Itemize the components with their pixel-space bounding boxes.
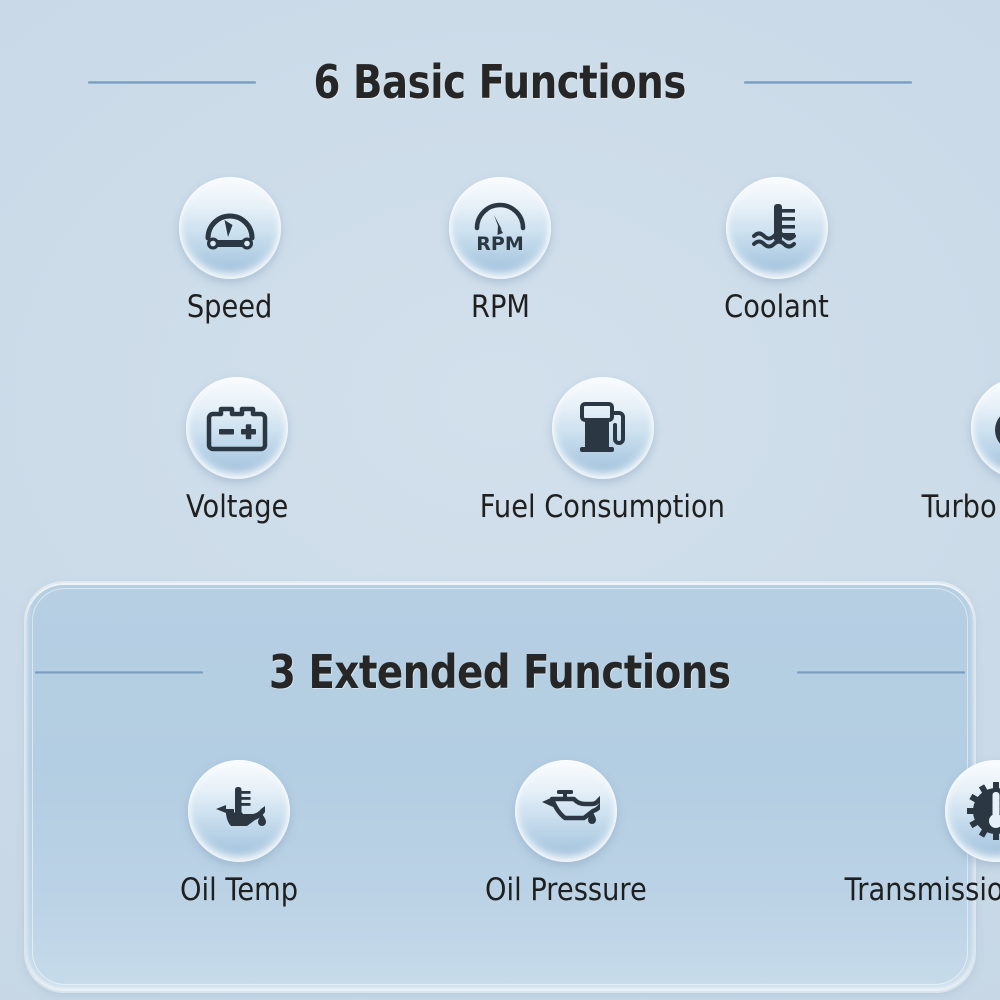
battery-icon [205, 402, 269, 454]
transmission-oil-temp-badge[interactable] [945, 760, 1000, 862]
rpm-badge[interactable]: RPM [449, 177, 551, 279]
extended-functions-row-1: Oil Temp Oil Pressure [0, 760, 1000, 906]
feature-fuel-consumption[interactable]: Fuel Consumption [463, 377, 742, 523]
feature-oil-temp[interactable]: Oil Temp [172, 760, 306, 906]
feature-label: Oil Pressure [485, 875, 647, 906]
extended-functions-heading: 3 Extended Functions [0, 637, 1000, 707]
basic-functions-row-2: Voltage Fuel Consumption [0, 377, 1000, 523]
coolant-badge[interactable] [726, 177, 828, 279]
feature-oil-pressure[interactable]: Oil Pressure [474, 760, 658, 906]
oil-pressure-badge[interactable] [515, 760, 617, 862]
coolant-thermometer-icon [746, 200, 808, 256]
feature-label: Turbo Pressure [922, 492, 1000, 523]
feature-voltage[interactable]: Voltage [179, 377, 295, 523]
feature-overview-graphic: 6 Basic Functions Speed [0, 0, 1000, 1000]
rpm-gauge-icon: RPM [467, 200, 533, 256]
basic-functions-title: 6 Basic Functions [314, 55, 686, 109]
feature-rpm[interactable]: RPM RPM [449, 177, 551, 323]
feature-label: Transmission Oil Temp [845, 875, 1000, 906]
turbo-pressure-badge[interactable] [971, 377, 1000, 479]
feature-turbo-pressure[interactable]: Turbo Pressure [908, 377, 1000, 523]
turbocharger-icon [990, 402, 1000, 454]
speedometer-icon [199, 202, 261, 254]
feature-label: Voltage [186, 492, 288, 523]
feature-label: Coolant [724, 292, 829, 323]
feature-speed[interactable]: Speed [179, 177, 281, 323]
feature-transmission-oil-temp[interactable]: Transmission Oil Temp [824, 760, 1000, 906]
heading-rule-left [35, 671, 203, 674]
feature-label: Speed [187, 292, 273, 323]
feature-coolant[interactable]: Coolant [717, 177, 836, 323]
feature-label: Fuel Consumption [480, 492, 725, 523]
basic-functions-heading: 6 Basic Functions [0, 47, 1000, 117]
basic-functions-row-1: Speed RPM RPM [0, 177, 1000, 323]
rpm-icon-text: RPM [476, 233, 523, 255]
heading-rule-right [744, 81, 912, 84]
oil-temp-badge[interactable] [188, 760, 290, 862]
oil-can-thermometer-icon [205, 783, 273, 839]
extended-functions-title: 3 Extended Functions [269, 645, 731, 699]
feature-label: Oil Temp [180, 875, 298, 906]
voltage-badge[interactable] [186, 377, 288, 479]
heading-rule-left [88, 81, 256, 84]
feature-label: RPM [471, 292, 530, 323]
heading-rule-right [797, 671, 965, 674]
fuel-pump-icon [574, 400, 632, 456]
oil-can-icon [532, 787, 600, 835]
fuel-consumption-badge[interactable] [552, 377, 654, 479]
speed-badge[interactable] [179, 177, 281, 279]
gear-thermometer-icon [967, 782, 1000, 840]
